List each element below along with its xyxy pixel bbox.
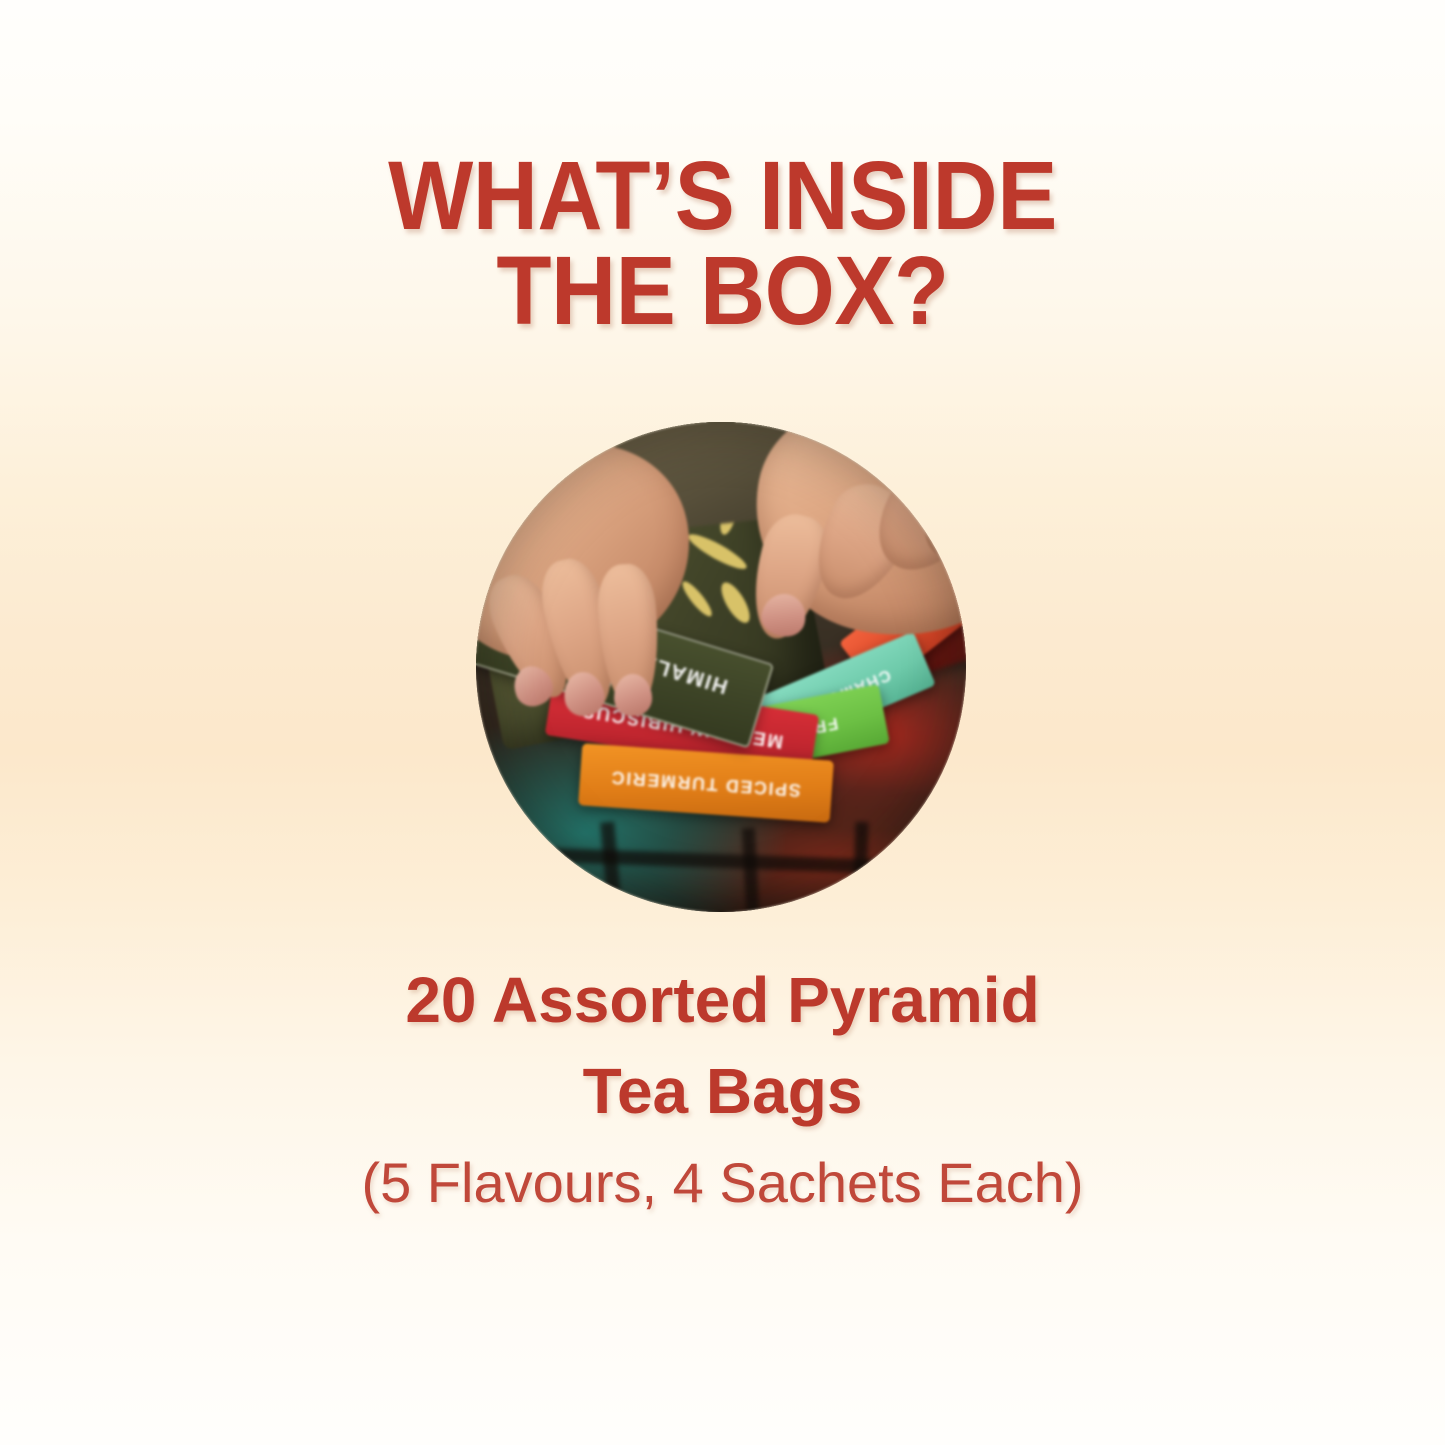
gold-botanical-motif	[685, 529, 750, 574]
poster-canvas: WHAT’S INSIDE THE BOX?	[0, 0, 1445, 1445]
sachet-label: SPICED TURMERIC	[610, 766, 802, 800]
product-caption: 20 Assorted Pyramid Tea Bags (5 Flavours…	[0, 955, 1445, 1215]
product-photo-image: CHAMOMILE FRESH MINT MELLOW HIBISCUS SPI…	[476, 422, 966, 912]
tea-box-divider	[852, 822, 868, 912]
tea-box-divider	[600, 822, 622, 911]
gold-botanical-motif	[716, 578, 755, 627]
caption-subtext: (5 Flavours, 4 Sachets Each)	[0, 1151, 1445, 1215]
tea-box-divider	[742, 828, 759, 912]
gold-botanical-motif	[679, 578, 716, 620]
caption-line-2: Tea Bags	[0, 1046, 1445, 1137]
caption-line-1: 20 Assorted Pyramid	[0, 955, 1445, 1046]
page-title-line-2: THE BOX?	[51, 243, 1395, 338]
page-title-line-1: WHAT’S INSIDE	[51, 148, 1395, 243]
product-photo-circle: CHAMOMILE FRESH MINT MELLOW HIBISCUS SPI…	[476, 422, 966, 912]
page-title: WHAT’S INSIDE THE BOX?	[51, 148, 1395, 338]
